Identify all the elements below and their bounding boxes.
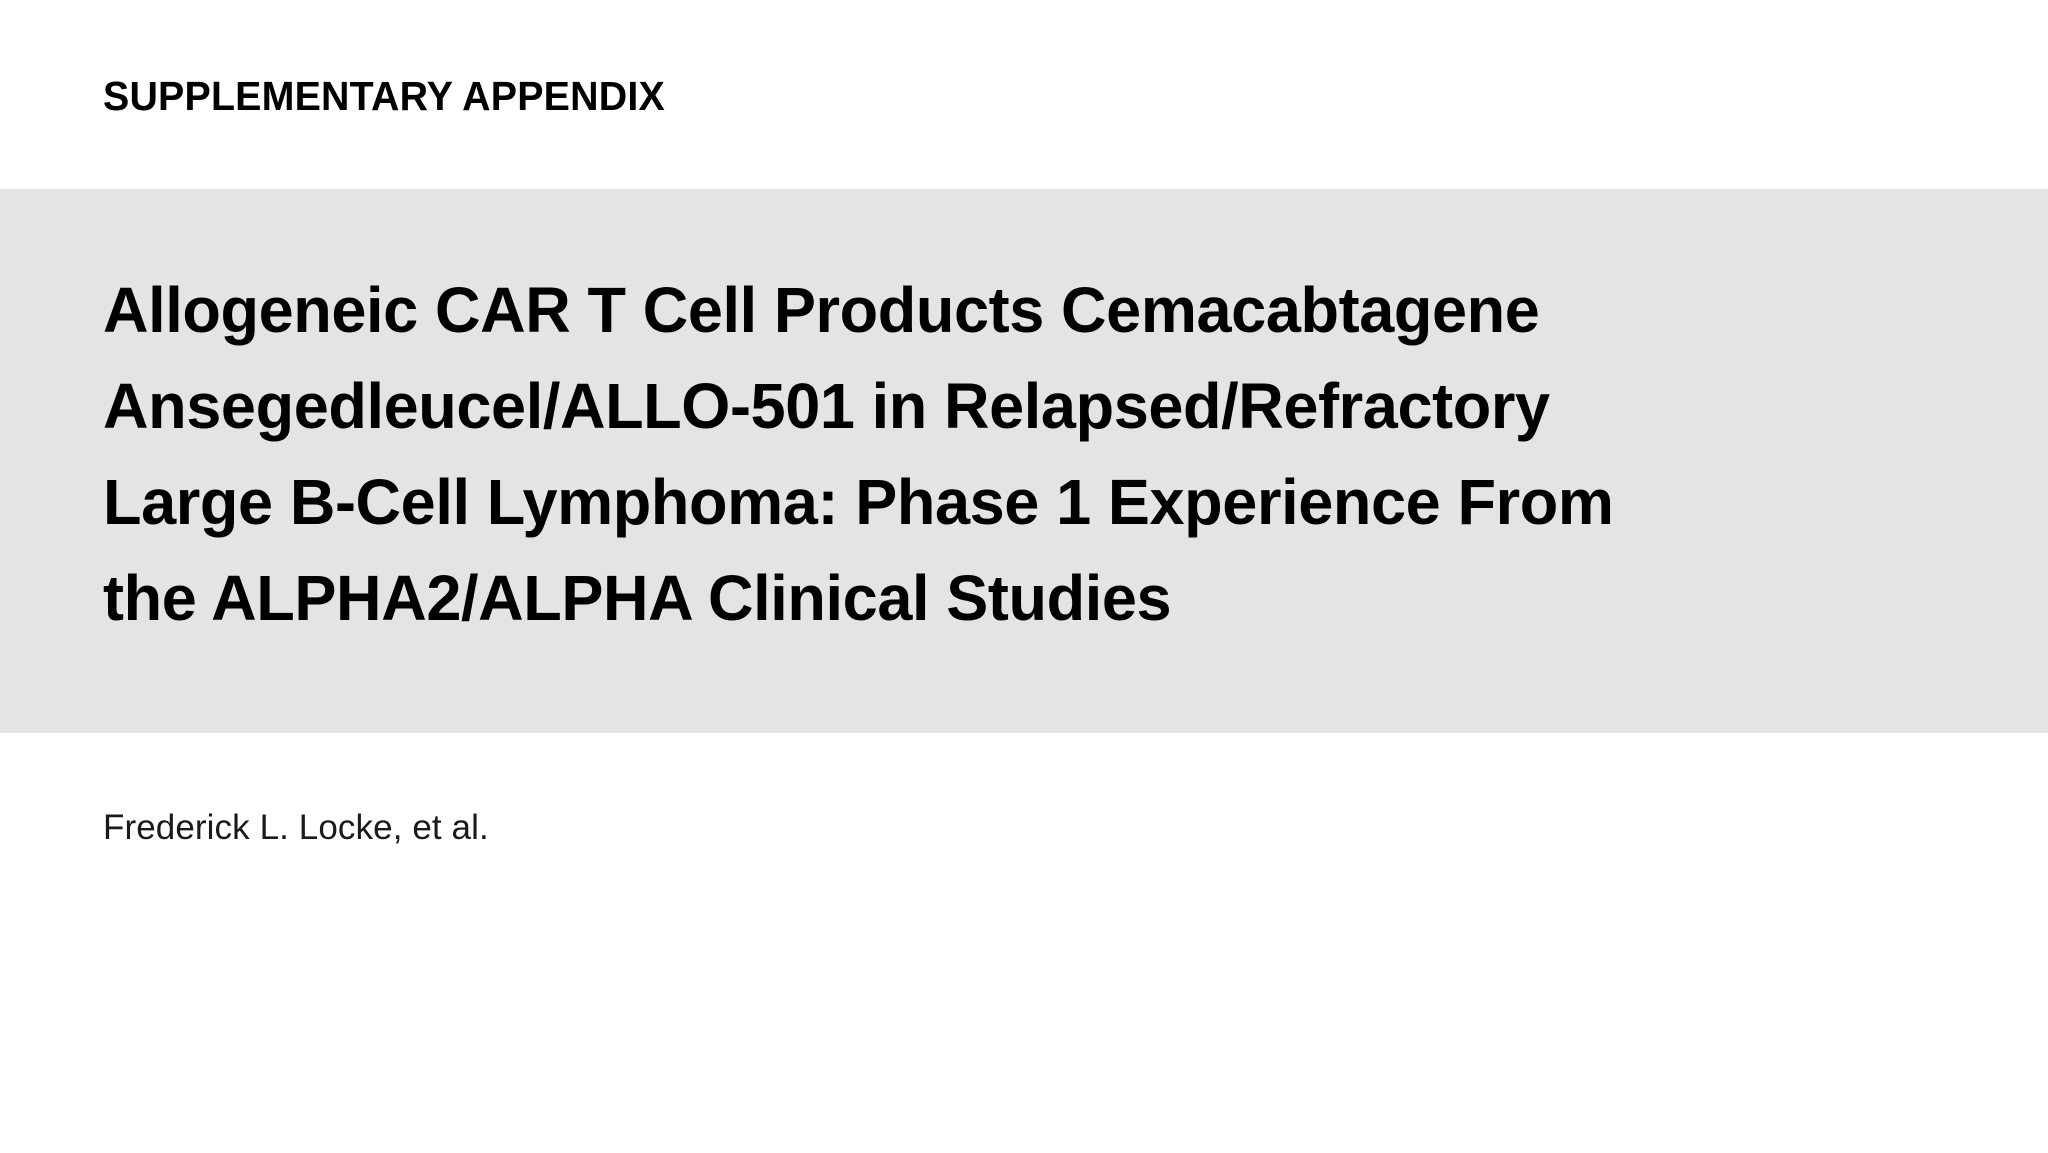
title-line-1: Allogeneic CAR T Cell Products Cemacabta… <box>103 262 1778 358</box>
title-line-2: Ansegedleucel/ALLO-501 in Relapsed/Refra… <box>103 358 1778 454</box>
title-slide: SUPPLEMENTARY APPENDIX Allogeneic CAR T … <box>0 0 2048 1153</box>
presentation-title: Allogeneic CAR T Cell Products Cemacabta… <box>103 262 1803 646</box>
supplementary-appendix-kicker: SUPPLEMENTARY APPENDIX <box>103 72 665 120</box>
title-line-4: the ALPHA2/ALPHA Clinical Studies <box>103 550 1778 646</box>
title-line-3: Large B-Cell Lymphoma: Phase 1 Experienc… <box>103 454 1778 550</box>
author-byline: Frederick L. Locke, et al. <box>103 806 489 850</box>
